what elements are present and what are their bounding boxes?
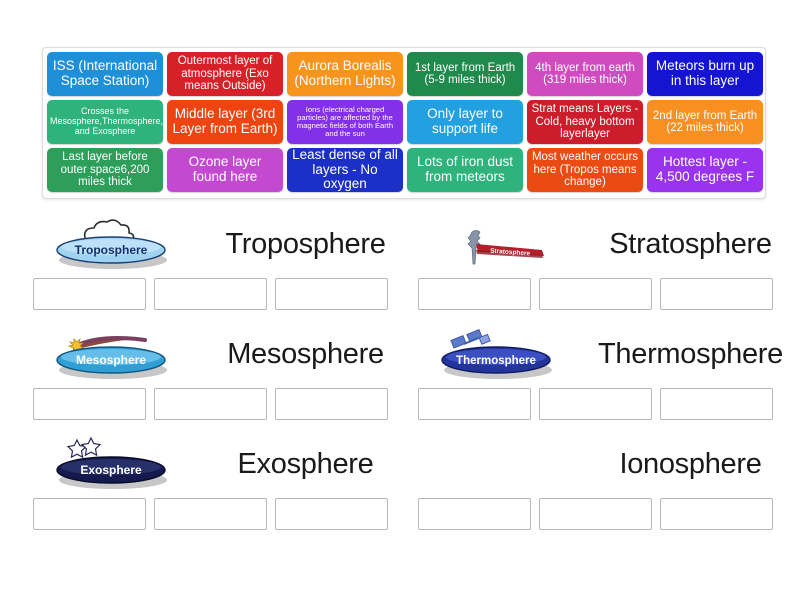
tile-row: Crosses the Mesosphere,Thermosphere, and… (47, 100, 761, 144)
answer-tile-text: Middle layer (3rd Layer from Earth) (170, 107, 280, 136)
answer-header: Stratosphere Stratosphere (413, 210, 798, 278)
answer-tile[interactable]: Hottest layer - 4,500 degrees F (647, 148, 763, 192)
no-icon-placeholder (413, 433, 583, 495)
answer-header: Thermosphere Thermosphere (413, 320, 798, 388)
exosphere-badge-icon: Exosphere (28, 433, 198, 495)
drop-slot[interactable] (539, 388, 652, 420)
drop-slot[interactable] (154, 388, 267, 420)
drop-slot[interactable] (660, 278, 773, 310)
answer-tile-text: Ozone layer found here (170, 155, 280, 184)
answer-tile-text: ISS (International Space Station) (50, 59, 160, 88)
answer-label: Stratosphere (583, 228, 798, 261)
answer-tile-text: Crosses the Mesosphere,Thermosphere, and… (50, 107, 160, 136)
tile-row: ISS (International Space Station) Outerm… (47, 52, 761, 96)
answer-tile[interactable]: Ions (electrical charged particles) are … (287, 100, 403, 144)
troposphere-badge-icon: Troposphere (28, 213, 198, 275)
drop-slot[interactable] (275, 278, 388, 310)
svg-text:Thermosphere: Thermosphere (456, 355, 536, 367)
thermosphere-badge-icon: Thermosphere (413, 323, 583, 385)
answer-tile-text: Only layer to support life (410, 107, 520, 136)
answer-tile-text: Hottest layer - 4,500 degrees F (650, 155, 760, 184)
answer-header: Mesosphere Mesosphere (28, 320, 413, 388)
svg-text:Stratosphere: Stratosphere (490, 248, 531, 258)
answer-label: Troposphere (198, 228, 413, 261)
answer-tile-text: Aurora Borealis (Northern Lights) (290, 59, 400, 88)
answer-tile[interactable]: Outermost layer of atmosphere (Exo means… (167, 52, 283, 96)
answer-header: Ionosphere (413, 430, 798, 498)
drop-slot[interactable] (154, 498, 267, 530)
answer-header: Troposphere Troposphere (28, 210, 413, 278)
answer-label: Ionosphere (583, 448, 798, 481)
answer-tile[interactable]: 1st layer from Earth (5-9 miles thick) (407, 52, 523, 96)
answer-slots (28, 388, 413, 420)
answer-area: Troposphere Troposphere Stratosphere (0, 210, 800, 570)
svg-text:Exosphere: Exosphere (80, 463, 142, 477)
answer-group-exosphere: Exosphere Exosphere (28, 430, 413, 540)
answer-tile-text: Ions (electrical charged particles) are … (290, 106, 400, 139)
answer-tile-text: Last layer before outer space6,200 miles… (50, 151, 160, 188)
answer-slots (413, 278, 798, 310)
drop-slot[interactable] (418, 498, 531, 530)
answer-slots (28, 498, 413, 530)
stratosphere-banner-icon: Stratosphere (413, 213, 583, 275)
answer-tile[interactable]: 2nd layer from Earth (22 miles thick) (647, 100, 763, 144)
answer-tile[interactable]: Least dense of all layers - No oxygen (287, 148, 403, 192)
drop-slot[interactable] (418, 388, 531, 420)
svg-text:Mesosphere: Mesosphere (76, 353, 146, 367)
answer-tile-text: 2nd layer from Earth (22 miles thick) (650, 110, 760, 135)
answer-label: Exosphere (198, 448, 413, 481)
answer-tile[interactable]: Lots of iron dust from meteors (407, 148, 523, 192)
answer-label: Thermosphere (583, 338, 798, 371)
answer-tile[interactable]: Middle layer (3rd Layer from Earth) (167, 100, 283, 144)
answer-tile[interactable]: Ozone layer found here (167, 148, 283, 192)
svg-text:Troposphere: Troposphere (75, 243, 148, 257)
drop-slot[interactable] (275, 388, 388, 420)
answer-tile[interactable]: Strat means Layers - Cold, heavy bottom … (527, 100, 643, 144)
answer-label: Mesosphere (198, 338, 413, 371)
drop-slot[interactable] (418, 278, 531, 310)
answer-tile[interactable]: Only layer to support life (407, 100, 523, 144)
drop-slot[interactable] (539, 498, 652, 530)
answer-tile[interactable]: Crosses the Mesosphere,Thermosphere, and… (47, 100, 163, 144)
answer-slots (413, 388, 798, 420)
answer-group-ionosphere: Ionosphere (413, 430, 798, 540)
answer-tile-text: Strat means Layers - Cold, heavy bottom … (530, 103, 640, 140)
drop-slot[interactable] (33, 498, 146, 530)
answer-group-thermosphere: Thermosphere Thermosphere (413, 320, 798, 430)
drop-slot[interactable] (275, 498, 388, 530)
answer-group-stratosphere: Stratosphere Stratosphere (413, 210, 798, 320)
drop-slot[interactable] (660, 388, 773, 420)
answer-tile-text: Least dense of all layers - No oxygen (290, 148, 400, 192)
answer-header: Exosphere Exosphere (28, 430, 413, 498)
answer-tile-text: 4th layer from earth (319 miles thick) (530, 62, 640, 87)
answer-tile[interactable]: 4th layer from earth (319 miles thick) (527, 52, 643, 96)
tile-row: Last layer before outer space6,200 miles… (47, 148, 761, 192)
answer-tile-text: Most weather occurs here (Tropos means c… (530, 151, 640, 188)
answer-tile-text: Outermost layer of atmosphere (Exo means… (170, 55, 280, 92)
answer-tile[interactable]: Meteors burn up in this layer (647, 52, 763, 96)
answer-slots (28, 278, 413, 310)
answer-tile[interactable]: Aurora Borealis (Northern Lights) (287, 52, 403, 96)
drop-slot[interactable] (33, 388, 146, 420)
answer-group-troposphere: Troposphere Troposphere (28, 210, 413, 320)
answer-tile-text: 1st layer from Earth (5-9 miles thick) (410, 62, 520, 87)
answer-slots (413, 498, 798, 530)
drop-slot[interactable] (33, 278, 146, 310)
answer-tile[interactable]: ISS (International Space Station) (47, 52, 163, 96)
answer-tile[interactable]: Most weather occurs here (Tropos means c… (527, 148, 643, 192)
tile-bank: ISS (International Space Station) Outerm… (42, 47, 766, 199)
answer-tile[interactable]: Last layer before outer space6,200 miles… (47, 148, 163, 192)
mesosphere-badge-icon: Mesosphere (28, 323, 198, 385)
drop-slot[interactable] (660, 498, 773, 530)
answer-tile-text: Lots of iron dust from meteors (410, 155, 520, 184)
drop-slot[interactable] (154, 278, 267, 310)
answer-group-mesosphere: Mesosphere Mesosphere (28, 320, 413, 430)
drop-slot[interactable] (539, 278, 652, 310)
answer-tile-text: Meteors burn up in this layer (650, 59, 760, 88)
